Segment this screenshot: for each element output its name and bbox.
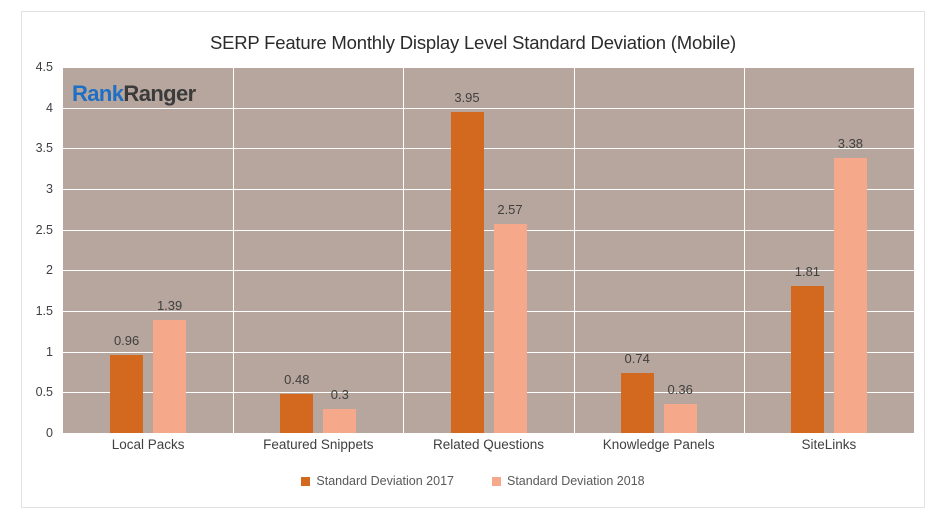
category-separator (744, 67, 745, 433)
bar-value-label: 1.39 (157, 298, 182, 313)
bar-value-label: 1.81 (795, 264, 820, 279)
bar-2018[interactable] (664, 404, 697, 433)
gridline (63, 148, 914, 149)
category-separator (574, 67, 575, 433)
y-axis-tick-label: 2 (46, 263, 53, 277)
x-axis-tick-label: Knowledge Panels (603, 437, 715, 452)
bar-2017[interactable] (280, 394, 313, 433)
bar-value-label: 0.74 (625, 351, 650, 366)
bar-value-label: 3.38 (838, 136, 863, 151)
bar-value-label: 0.96 (114, 333, 139, 348)
bar-2017[interactable] (791, 286, 824, 433)
bar-value-label: 0.3 (331, 387, 349, 402)
gridline (63, 67, 914, 68)
gridline (63, 352, 914, 353)
category-separator (403, 67, 404, 433)
bar-2017[interactable] (621, 373, 654, 433)
bar-2017[interactable] (110, 355, 143, 433)
bar-value-label: 0.36 (668, 382, 693, 397)
bar-2018[interactable] (153, 320, 186, 433)
bar-2018[interactable] (834, 158, 867, 433)
category-separator (233, 67, 234, 433)
gridline (63, 311, 914, 312)
chart-legend: Standard Deviation 2017Standard Deviatio… (22, 474, 924, 488)
legend-label: Standard Deviation 2018 (507, 474, 645, 488)
y-axis-tick-label: 1 (46, 345, 53, 359)
gridline (63, 270, 914, 271)
legend-item-2017[interactable]: Standard Deviation 2017 (301, 474, 454, 488)
chart-title: SERP Feature Monthly Display Level Stand… (22, 32, 924, 54)
plot-area: RankRanger 0.961.390.480.33.952.570.740.… (63, 67, 914, 433)
bar-2017[interactable] (451, 112, 484, 433)
legend-item-2018[interactable]: Standard Deviation 2018 (492, 474, 645, 488)
gridline (63, 392, 914, 393)
rankranger-watermark-logo: RankRanger (72, 81, 196, 107)
bar-value-label: 0.48 (284, 372, 309, 387)
y-axis-tick-label: 2.5 (36, 223, 53, 237)
bar-value-label: 2.57 (497, 202, 522, 217)
x-axis-tick-label: SiteLinks (802, 437, 857, 452)
y-axis-tick-label: 3.5 (36, 141, 53, 155)
x-axis-tick-label: Featured Snippets (263, 437, 373, 452)
bar-2018[interactable] (323, 409, 356, 433)
watermark-rank-text: Rank (72, 81, 123, 106)
x-axis: Local PacksFeatured SnippetsRelated Ques… (63, 437, 914, 463)
watermark-ranger-text: Ranger (123, 81, 195, 106)
legend-swatch-icon (301, 477, 310, 486)
bar-value-label: 3.95 (454, 90, 479, 105)
y-axis: 00.511.522.533.544.5 (22, 67, 58, 433)
legend-swatch-icon (492, 477, 501, 486)
y-axis-tick-label: 4 (46, 101, 53, 115)
gridline (63, 108, 914, 109)
y-axis-tick-label: 3 (46, 182, 53, 196)
x-axis-tick-label: Related Questions (433, 437, 544, 452)
gridline (63, 230, 914, 231)
chart-frame: SERP Feature Monthly Display Level Stand… (21, 11, 925, 508)
bar-2018[interactable] (494, 224, 527, 433)
y-axis-tick-label: 0.5 (36, 385, 53, 399)
x-axis-tick-label: Local Packs (112, 437, 185, 452)
y-axis-tick-label: 4.5 (36, 60, 53, 74)
y-axis-tick-label: 0 (46, 426, 53, 440)
gridline (63, 189, 914, 190)
y-axis-tick-label: 1.5 (36, 304, 53, 318)
legend-label: Standard Deviation 2017 (316, 474, 454, 488)
